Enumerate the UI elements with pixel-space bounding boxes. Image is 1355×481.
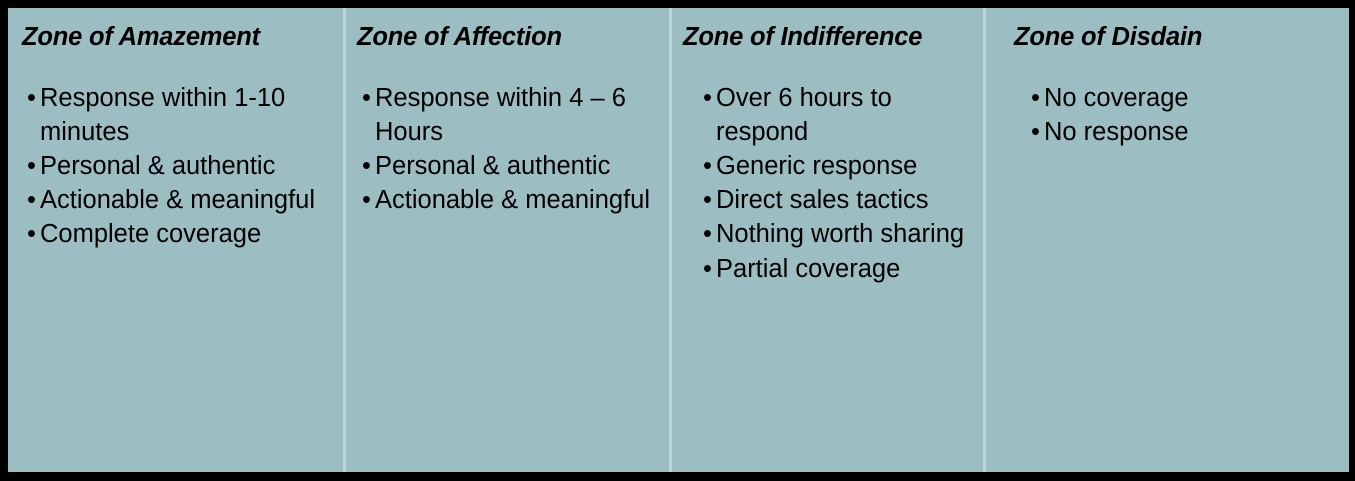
- zone-bullet-list-indifference: •Over 6 hours to respond •Generic respon…: [703, 81, 968, 286]
- list-item-label: Actionable & meaningful: [375, 186, 650, 214]
- list-item-label: Actionable & meaningful: [40, 186, 315, 214]
- zone-header-affection: Zone of Affection: [357, 24, 660, 51]
- zone-bullet-list-amazement: •Response within 1-10 minutes •Personal …: [27, 81, 326, 252]
- bullet-icon: •: [703, 252, 712, 286]
- list-item: •Actionable & meaningful: [27, 183, 326, 217]
- list-item: •Over 6 hours to respond: [703, 81, 968, 149]
- zone-column-affection: Zone of Affection •Response within 4 – 6…: [343, 8, 660, 472]
- list-item: •Actionable & meaningful: [362, 183, 658, 217]
- bullet-icon: •: [27, 81, 36, 115]
- list-item-label: Over 6 hours to respond: [716, 84, 892, 146]
- list-item: •Partial coverage: [703, 252, 968, 286]
- list-item: •No response: [1031, 115, 1307, 149]
- list-item: •Personal & authentic: [362, 149, 658, 183]
- bullet-icon: •: [362, 81, 371, 115]
- bullet-icon: •: [703, 183, 712, 217]
- zone-bullet-list-disdain: •No coverage •No response: [1031, 81, 1307, 149]
- list-item-label: Response within 4 – 6 Hours: [375, 84, 626, 146]
- zones-panel: Zone of Amazement •Response within 1-10 …: [8, 8, 1349, 472]
- list-item: •Direct sales tactics: [703, 183, 968, 217]
- list-item-label: Response within 1-10 minutes: [40, 84, 285, 146]
- bullet-icon: •: [362, 183, 371, 217]
- bullet-icon: •: [27, 149, 36, 183]
- bullet-icon: •: [703, 217, 712, 251]
- list-item: •Personal & authentic: [27, 149, 326, 183]
- list-item: •Nothing worth sharing: [703, 217, 968, 251]
- bullet-icon: •: [1031, 81, 1040, 115]
- list-item: •Response within 4 – 6 Hours: [362, 81, 658, 149]
- zone-bullet-list-affection: •Response within 4 – 6 Hours •Personal &…: [362, 81, 658, 218]
- list-item-label: Personal & authentic: [40, 152, 275, 180]
- zone-header-disdain: Zone of Disdain: [1014, 24, 1313, 51]
- list-item: •Generic response: [703, 149, 968, 183]
- zone-column-disdain: Zone of Disdain •No coverage •No respons…: [983, 8, 1313, 472]
- list-item-label: Generic response: [716, 152, 917, 180]
- zone-column-amazement: Zone of Amazement •Response within 1-10 …: [8, 8, 334, 472]
- list-item-label: Personal & authentic: [375, 152, 610, 180]
- list-item-label: Complete coverage: [40, 220, 261, 248]
- bullet-icon: •: [27, 183, 36, 217]
- list-item: •Response within 1-10 minutes: [27, 81, 326, 149]
- list-item-label: No coverage: [1044, 84, 1189, 112]
- zones-comparison-slide: Zone of Amazement •Response within 1-10 …: [0, 0, 1355, 481]
- zone-column-indifference: Zone of Indifference •Over 6 hours to re…: [669, 8, 974, 472]
- list-item-label: Partial coverage: [716, 255, 900, 283]
- list-item-label: Direct sales tactics: [716, 186, 929, 214]
- zone-header-amazement: Zone of Amazement: [22, 24, 334, 51]
- zone-header-indifference: Zone of Indifference: [683, 24, 974, 51]
- bullet-icon: •: [703, 81, 712, 115]
- bullet-icon: •: [27, 217, 36, 251]
- bullet-icon: •: [362, 149, 371, 183]
- list-item: •Complete coverage: [27, 217, 326, 251]
- bullet-icon: •: [1031, 115, 1040, 149]
- list-item: •No coverage: [1031, 81, 1307, 115]
- list-item-label: Nothing worth sharing: [716, 220, 964, 248]
- bullet-icon: •: [703, 149, 712, 183]
- list-item-label: No response: [1044, 118, 1189, 146]
